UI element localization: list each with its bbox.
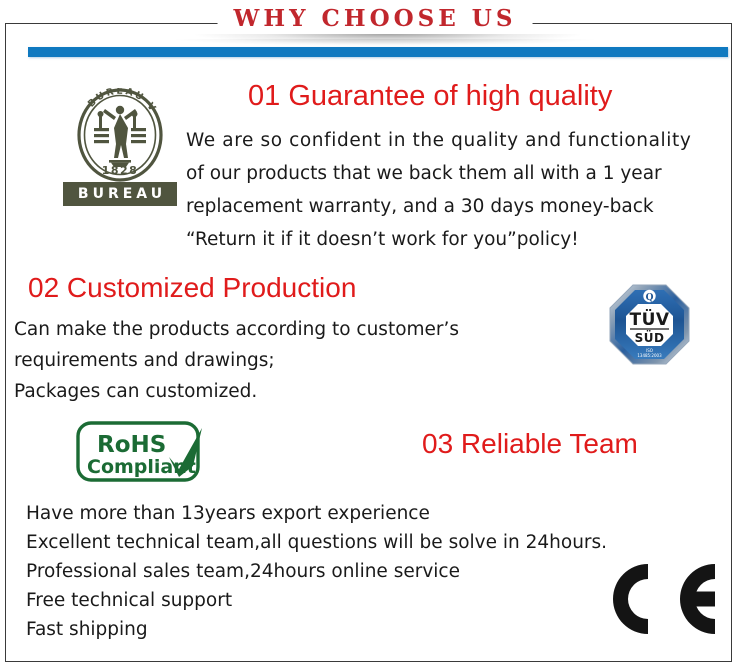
rohs-compliant-logo: RoHS Compliant bbox=[75, 420, 220, 484]
section-03-line-5: Fast shipping bbox=[26, 619, 148, 640]
svg-text:BUREAU VERITAS: BUREAU VERITAS bbox=[63, 88, 159, 115]
rohs-badge-icon: RoHS Compliant bbox=[75, 420, 220, 484]
why-choose-us-panel: WHY CHOOSE US BUREAU VERITAS bbox=[0, 0, 750, 671]
header-banner: WHY CHOOSE US bbox=[0, 0, 750, 46]
ce-mark-icon bbox=[600, 560, 722, 638]
section-03-line-4: Free technical support bbox=[26, 590, 232, 611]
tuv-sud-logo: Q TÜV SÜD ISO 13485:2003 bbox=[607, 282, 692, 368]
title-shadow-soft bbox=[170, 39, 600, 46]
section-02-line-2: requirements and drawings; bbox=[14, 350, 275, 371]
section-02-line-1: Can make the products according to custo… bbox=[14, 319, 459, 340]
tuv-iso-line-2: 13485:2003 bbox=[637, 353, 662, 358]
section-01-heading: 01 Guarantee of high quality bbox=[248, 80, 612, 113]
ce-mark-logo bbox=[600, 560, 722, 638]
blue-accent-bar bbox=[28, 47, 728, 57]
bureau-veritas-seal-icon: BUREAU VERITAS bbox=[63, 88, 177, 184]
tuv-sud-badge-icon: Q TÜV SÜD ISO 13485:2003 bbox=[607, 282, 692, 368]
tuv-label: TÜV bbox=[629, 308, 669, 330]
bureau-veritas-banner-label: BUREAU bbox=[74, 186, 166, 202]
section-01-line-3: replacement warranty, and a 30 days mone… bbox=[186, 196, 654, 217]
section-01-line-1: We are so confident in the quality and f… bbox=[186, 130, 691, 151]
section-03-heading: 03 Reliable Team bbox=[422, 428, 638, 460]
section-02-line-3: Packages can customized. bbox=[14, 381, 257, 402]
section-03-line-1: Have more than 13years export experience bbox=[26, 503, 430, 524]
section-01-line-2: of our products that we back them all wi… bbox=[186, 163, 662, 184]
bureau-veritas-logo: BUREAU VERITAS bbox=[63, 88, 177, 210]
page-title: WHY CHOOSE US bbox=[218, 4, 533, 34]
sud-label: SÜD bbox=[635, 330, 665, 345]
rohs-line-1: RoHS bbox=[97, 432, 166, 458]
section-01-line-4: “Return it if it doesn’t work for you”po… bbox=[186, 229, 579, 250]
tuv-q-label: Q bbox=[646, 293, 654, 303]
section-03-line-2: Excellent technical team,all questions w… bbox=[26, 532, 607, 553]
section-03-line-3: Professional sales team,24hours online s… bbox=[26, 561, 460, 582]
bv-year-label: 1828 bbox=[102, 164, 139, 177]
bureau-veritas-banner: BUREAU bbox=[63, 182, 177, 206]
section-02-heading: 02 Customized Production bbox=[28, 272, 356, 304]
